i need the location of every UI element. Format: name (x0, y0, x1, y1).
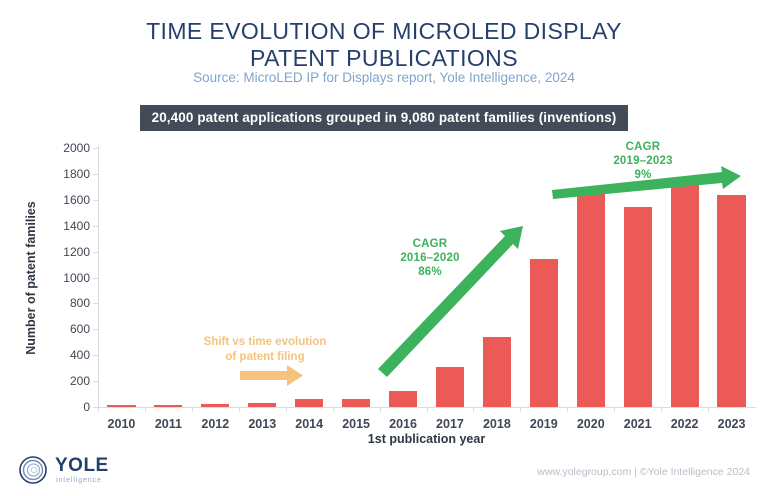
annotation-cagr-2016-2020-line-1: CAGR (375, 237, 485, 251)
banner-container: 20,400 patent applications grouped in 9,… (0, 105, 768, 131)
y-axis-tick-mark (93, 355, 98, 356)
x-axis-tick-mark (286, 407, 287, 412)
y-axis-tick-mark (93, 226, 98, 227)
x-axis-tick-label: 2019 (530, 417, 558, 431)
bar-2021[interactable] (624, 207, 652, 407)
y-axis-title-text: Number of patent families (24, 201, 38, 355)
bar-2013[interactable] (248, 403, 276, 407)
x-axis-tick-label: 2010 (108, 417, 136, 431)
yole-spiral-icon (18, 455, 48, 485)
x-axis-tick-label: 2023 (718, 417, 746, 431)
x-axis-tick-mark (239, 407, 240, 412)
page-title-line-2: PATENT PUBLICATIONS (0, 45, 768, 72)
y-axis-tick-mark (93, 174, 98, 175)
y-axis-tick-mark (93, 148, 98, 149)
y-axis-tick-mark (93, 381, 98, 382)
x-axis-tick-mark (98, 407, 99, 412)
y-axis-tick-label: 2000 (63, 141, 90, 155)
bar-2014[interactable] (295, 399, 323, 407)
annotation-shift-note-line-1: Shift vs time evolution (185, 335, 345, 350)
x-axis-tick-label: 2020 (577, 417, 605, 431)
x-axis-tick-mark (708, 407, 709, 412)
x-axis-tick-mark (333, 407, 334, 412)
yole-logo-subtitle: intelligence (56, 477, 109, 484)
y-axis-tick-mark (93, 278, 98, 279)
x-axis-tick-label: 2021 (624, 417, 652, 431)
x-axis-tick-mark (380, 407, 381, 412)
y-axis-tick-mark (93, 252, 98, 253)
x-axis-tick-mark (520, 407, 521, 412)
x-axis-tick-mark (614, 407, 615, 412)
y-axis-title: Number of patent families (22, 148, 40, 407)
bar-2016[interactable] (389, 391, 417, 407)
y-axis-tick-label: 200 (70, 374, 90, 388)
page-title: TIME EVOLUTION OF MICROLED DISPLAY PATEN… (0, 18, 768, 72)
bar-2010[interactable] (107, 405, 135, 407)
bar-2011[interactable] (154, 405, 182, 407)
y-axis-tick-label: 1600 (63, 193, 90, 207)
yole-logo-name: YOLE (55, 456, 109, 475)
y-axis-tick-mark (93, 303, 98, 304)
y-axis-tick-label: 1000 (63, 271, 90, 285)
bar-2018[interactable] (483, 337, 511, 407)
x-axis-tick-label: 2015 (342, 417, 370, 431)
y-axis-tick-mark (93, 329, 98, 330)
x-axis-tick-label: 2011 (155, 417, 182, 431)
y-axis-tick-label: 800 (70, 296, 90, 310)
bar-2022[interactable] (671, 183, 699, 407)
x-axis-tick-label: 2012 (201, 417, 229, 431)
x-axis-tick-mark (145, 407, 146, 412)
x-axis-tick-mark (473, 407, 474, 412)
annotation-shift-note-line-2: of patent filing (185, 350, 345, 365)
summary-banner: 20,400 patent applications grouped in 9,… (140, 105, 629, 131)
y-axis-tick-label: 1800 (63, 167, 90, 181)
bar-2023[interactable] (717, 195, 745, 407)
annotation-cagr-2016-2020-line-2: 2016–2020 (375, 251, 485, 265)
annotation-cagr-2016-2020-line-3: 86% (375, 265, 485, 279)
x-axis-tick-label: 2014 (295, 417, 323, 431)
y-axis-tick-label: 400 (70, 348, 90, 362)
x-axis-tick-mark (661, 407, 662, 412)
yole-wordmark: YOLE intelligence (55, 456, 109, 484)
x-axis-tick-mark (192, 407, 193, 412)
y-axis-tick-mark (93, 200, 98, 201)
annotation-cagr-2019-2023-line-1: CAGR (588, 140, 698, 154)
bar-2012[interactable] (201, 404, 229, 407)
y-axis-tick-label: 1200 (63, 245, 90, 259)
annotation-cagr-2019-2023-line-3: 9% (588, 168, 698, 182)
annotation-shift-note: Shift vs time evolution of patent filing (185, 335, 345, 365)
footer-logo: YOLE intelligence (18, 455, 109, 485)
x-axis-tick-label: 2018 (483, 417, 511, 431)
x-axis-tick-label: 2022 (671, 417, 699, 431)
x-axis-tick-label: 2017 (436, 417, 464, 431)
footer-credit: www.yolegroup.com | ©Yole Intelligence 2… (537, 466, 750, 478)
y-axis-tick-label: 600 (70, 322, 90, 336)
annotation-cagr-2019-2023: CAGR 2019–2023 9% (588, 140, 698, 182)
y-axis-tick-label: 1400 (63, 219, 90, 233)
x-axis-tick-mark (567, 407, 568, 412)
bar-2015[interactable] (342, 399, 370, 407)
x-axis-tick-mark (427, 407, 428, 412)
bar-2019[interactable] (530, 259, 558, 407)
chart-subtitle: Source: MicroLED IP for Displays report,… (0, 70, 768, 85)
chart-page: TIME EVOLUTION OF MICROLED DISPLAY PATEN… (0, 0, 768, 496)
x-axis-tick-label: 2016 (389, 417, 417, 431)
annotation-cagr-2019-2023-line-2: 2019–2023 (588, 154, 698, 168)
x-axis-title: 1st publication year (98, 432, 755, 446)
annotation-cagr-2016-2020: CAGR 2016–2020 86% (375, 237, 485, 279)
bar-2020[interactable] (577, 193, 605, 407)
page-title-line-1: TIME EVOLUTION OF MICROLED DISPLAY (0, 18, 768, 45)
x-axis-tick-label: 2013 (248, 417, 276, 431)
bar-2017[interactable] (436, 367, 464, 407)
y-axis-tick-label: 0 (83, 400, 90, 414)
